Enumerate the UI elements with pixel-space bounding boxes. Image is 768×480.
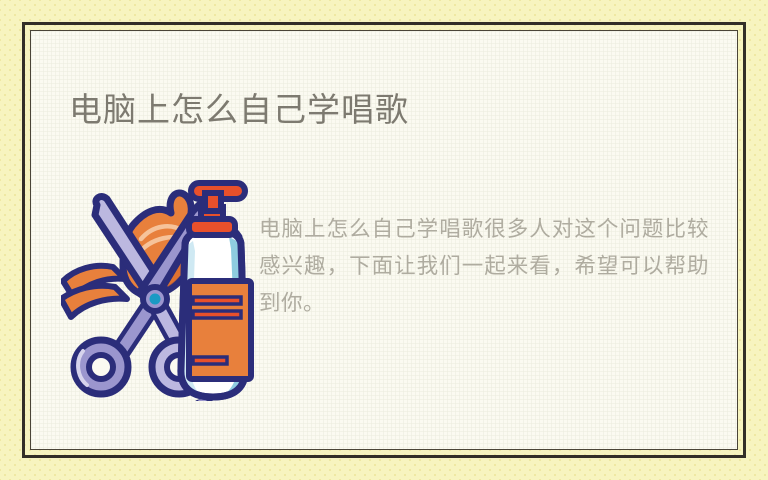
- hairdressing-tools-illustration: [61, 171, 257, 401]
- illustration-svg: [61, 171, 257, 401]
- hair-strands-left-icon: [61, 266, 127, 317]
- page-title: 电脑上怎么自己学唱歌: [69, 89, 409, 131]
- article-body-text: 电脑上怎么自己学唱歌很多人对这个问题比较感兴趣，下面让我们一起来看，希望可以帮助…: [259, 211, 709, 322]
- page-canvas: 电脑上怎么自己学唱歌: [0, 0, 768, 480]
- article-card: 电脑上怎么自己学唱歌: [30, 30, 738, 450]
